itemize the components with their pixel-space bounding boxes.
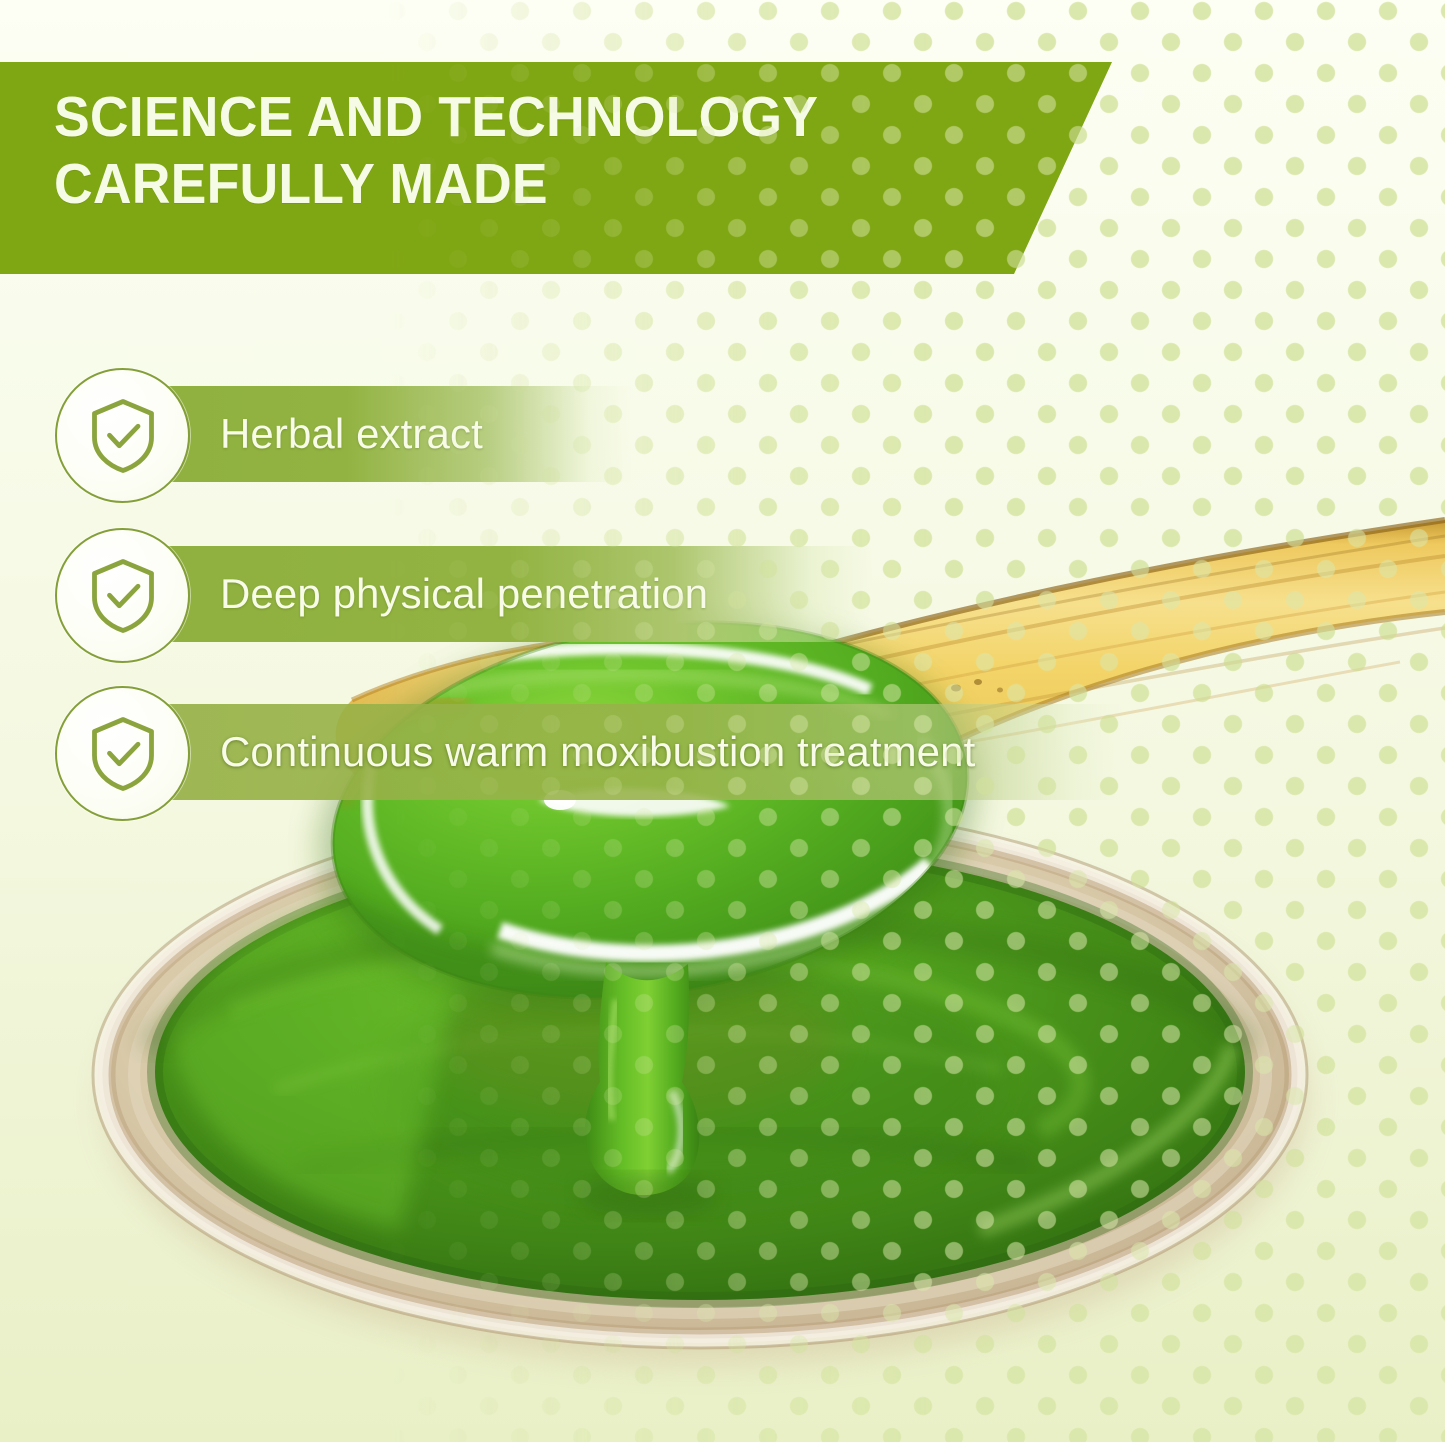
feature-item-continuous-warm-moxibustion-treatment[interactable]: Continuous warm moxibustion treatment — [0, 682, 1130, 822]
feature-item-deep-physical-penetration[interactable]: Deep physical penetration — [0, 524, 880, 664]
feature-icon-badge — [55, 686, 190, 821]
ceramic-dish — [93, 802, 1307, 1364]
page-title-line-2: CAREFULLY MADE — [54, 152, 548, 216]
feature-label: Herbal extract — [220, 386, 483, 482]
feature-item-herbal-extract[interactable]: Herbal extract — [0, 364, 640, 504]
feature-label: Deep physical penetration — [220, 546, 708, 642]
green-herbal-paste-on-spoon — [294, 579, 1001, 1218]
page-title: SCIENCE AND TECHNOLOGYCAREFULLY MADE — [54, 84, 994, 219]
product-feature-graphic: SCIENCE AND TECHNOLOGYCAREFULLY MADE Her… — [0, 0, 1445, 1442]
feature-label-bar: Continuous warm moxibustion treatment — [112, 704, 1122, 800]
feature-label-bar: Deep physical penetration — [112, 546, 872, 642]
banner-top-rule — [0, 58, 1112, 62]
feature-label-bar: Herbal extract — [112, 386, 632, 482]
page-title-line-1: SCIENCE AND TECHNOLOGY — [54, 85, 818, 149]
shield-check-icon — [86, 397, 160, 475]
feature-icon-badge — [55, 368, 190, 503]
feature-icon-badge — [55, 528, 190, 663]
shield-check-icon — [86, 715, 160, 793]
feature-label: Continuous warm moxibustion treatment — [220, 704, 975, 800]
header-banner: SCIENCE AND TECHNOLOGYCAREFULLY MADE — [0, 62, 1112, 274]
shield-check-icon — [86, 557, 160, 635]
